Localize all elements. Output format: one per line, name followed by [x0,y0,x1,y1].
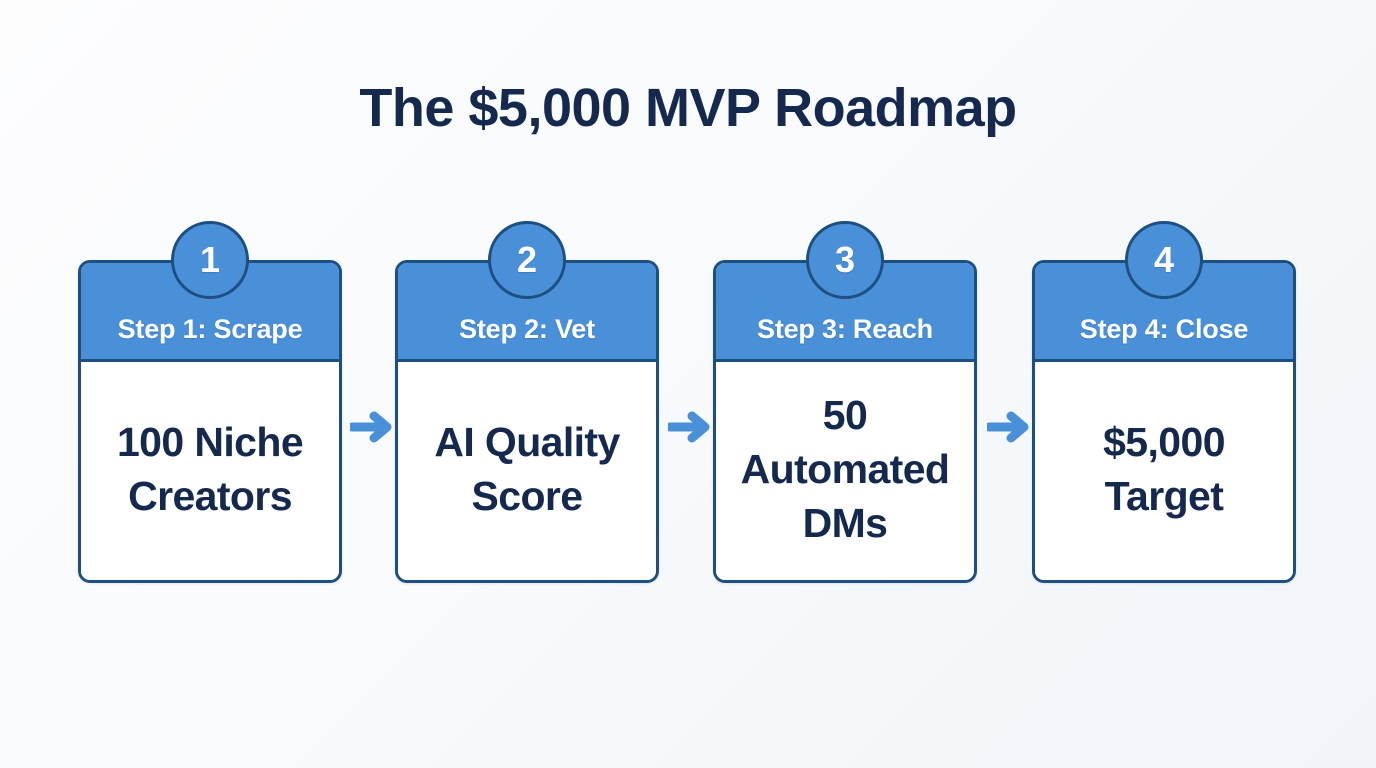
step-number-badge-3-label: 3 [835,242,855,278]
step-card-4-body: $5,000 Target [1035,362,1293,580]
step-card-1-header-label: Step 1: Scrape [118,313,303,345]
step-card-3[interactable]: Step 3: Reach 50 Automated DMs [713,260,977,583]
step-card-3-body-text: 50 Automated DMs [726,388,964,550]
step-card-1[interactable]: Step 1: Scrape 100 Niche Creators [78,260,342,583]
step-number-badge-2: 2 [488,221,566,299]
step-card-1-body: 100 Niche Creators [81,362,339,580]
step-number-badge-1: 1 [171,221,249,299]
page-title: The $5,000 MVP Roadmap [0,76,1376,140]
step-flow: Step 1: Scrape 100 Niche Creators Step 2… [78,221,1298,587]
step-card-4[interactable]: Step 4: Close $5,000 Target [1032,260,1296,583]
arrow-right-icon [987,407,1033,447]
step-number-badge-1-label: 1 [200,242,220,278]
step-number-badge-3: 3 [806,221,884,299]
step-number-badge-4: 4 [1125,221,1203,299]
step-card-3-body: 50 Automated DMs [716,362,974,580]
step-card-2-body-text: AI Quality Score [408,415,646,523]
step-card-2-header-label: Step 2: Vet [459,313,595,345]
step-number-badge-4-label: 4 [1154,242,1174,278]
step-card-2-body: AI Quality Score [398,362,656,580]
step-card-4-body-text: $5,000 Target [1045,415,1283,523]
step-card-2[interactable]: Step 2: Vet AI Quality Score [395,260,659,583]
roadmap-infographic: The $5,000 MVP Roadmap Step 1: Scrape 10… [0,0,1376,768]
step-card-4-header-label: Step 4: Close [1080,313,1248,345]
step-card-1-body-text: 100 Niche Creators [91,415,329,523]
step-number-badge-2-label: 2 [517,242,537,278]
arrow-right-icon [350,407,396,447]
step-card-3-header-label: Step 3: Reach [757,313,933,345]
arrow-right-icon [668,407,714,447]
